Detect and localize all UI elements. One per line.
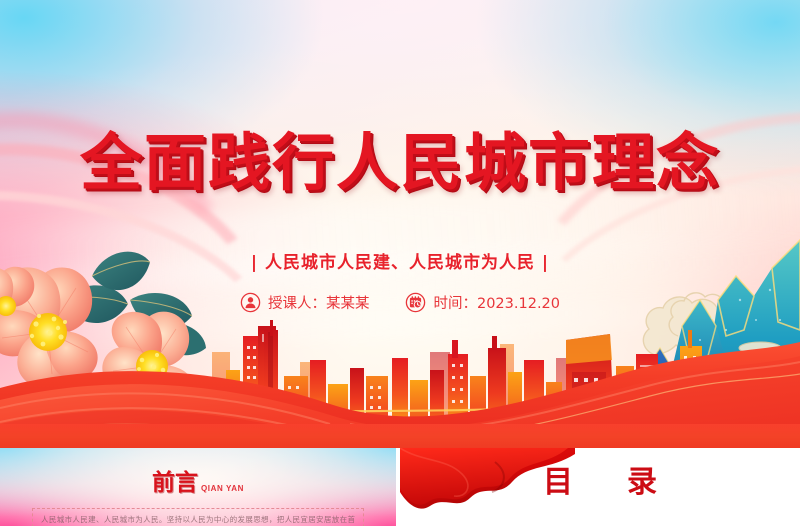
scenery-illustration <box>0 0 800 448</box>
preface-heading: 前言 QIAN YAN <box>0 472 396 495</box>
subtitle: | 人民城市人民建、人民城市为人民 | <box>0 248 800 273</box>
page-title: 全面践行人民城市理念 <box>0 132 800 194</box>
preface-text-box: 人民城市人民建、人民城市为人民。坚持以人民为中心的发展思想，把人民宜居安居放在首… <box>32 508 364 526</box>
hero-bottom-red-strip <box>0 424 800 448</box>
preface-body-text: 人民城市人民建、人民城市为人民。坚持以人民为中心的发展思想，把人民宜居安居放在首… <box>33 509 363 526</box>
meta-row: 授课人：某某某 <box>0 292 800 313</box>
calendar-clock-icon <box>405 292 426 313</box>
date-label: 时间：2023.12.20 <box>433 292 560 313</box>
preface-title-cn: 前言 <box>152 472 198 495</box>
person-circle-icon <box>240 292 261 313</box>
title-block: 全面践行人民城市理念 <box>0 132 800 194</box>
preface-title-en: QIAN YAN <box>201 485 244 495</box>
presenter-meta: 授课人：某某某 <box>240 292 370 313</box>
thumbnail-preface[interactable]: 前言 QIAN YAN 人民城市人民建、人民城市为人民。坚持以人民为中心的发展思… <box>0 448 396 526</box>
thumbnail-strip: 前言 QIAN YAN 人民城市人民建、人民城市为人民。坚持以人民为中心的发展思… <box>0 448 800 526</box>
hero-slide: 全面践行人民城市理念 | 人民城市人民建、人民城市为人民 | 授课人：某某某 <box>0 0 800 448</box>
slide-canvas: 全面践行人民城市理念 | 人民城市人民建、人民城市为人民 | 授课人：某某某 <box>0 0 800 526</box>
contents-title: 目 录 <box>400 468 800 498</box>
date-meta: 时间：2023.12.20 <box>405 292 560 313</box>
thumbnail-contents[interactable]: 目 录 <box>400 448 800 526</box>
presenter-label: 授课人：某某某 <box>268 292 370 313</box>
